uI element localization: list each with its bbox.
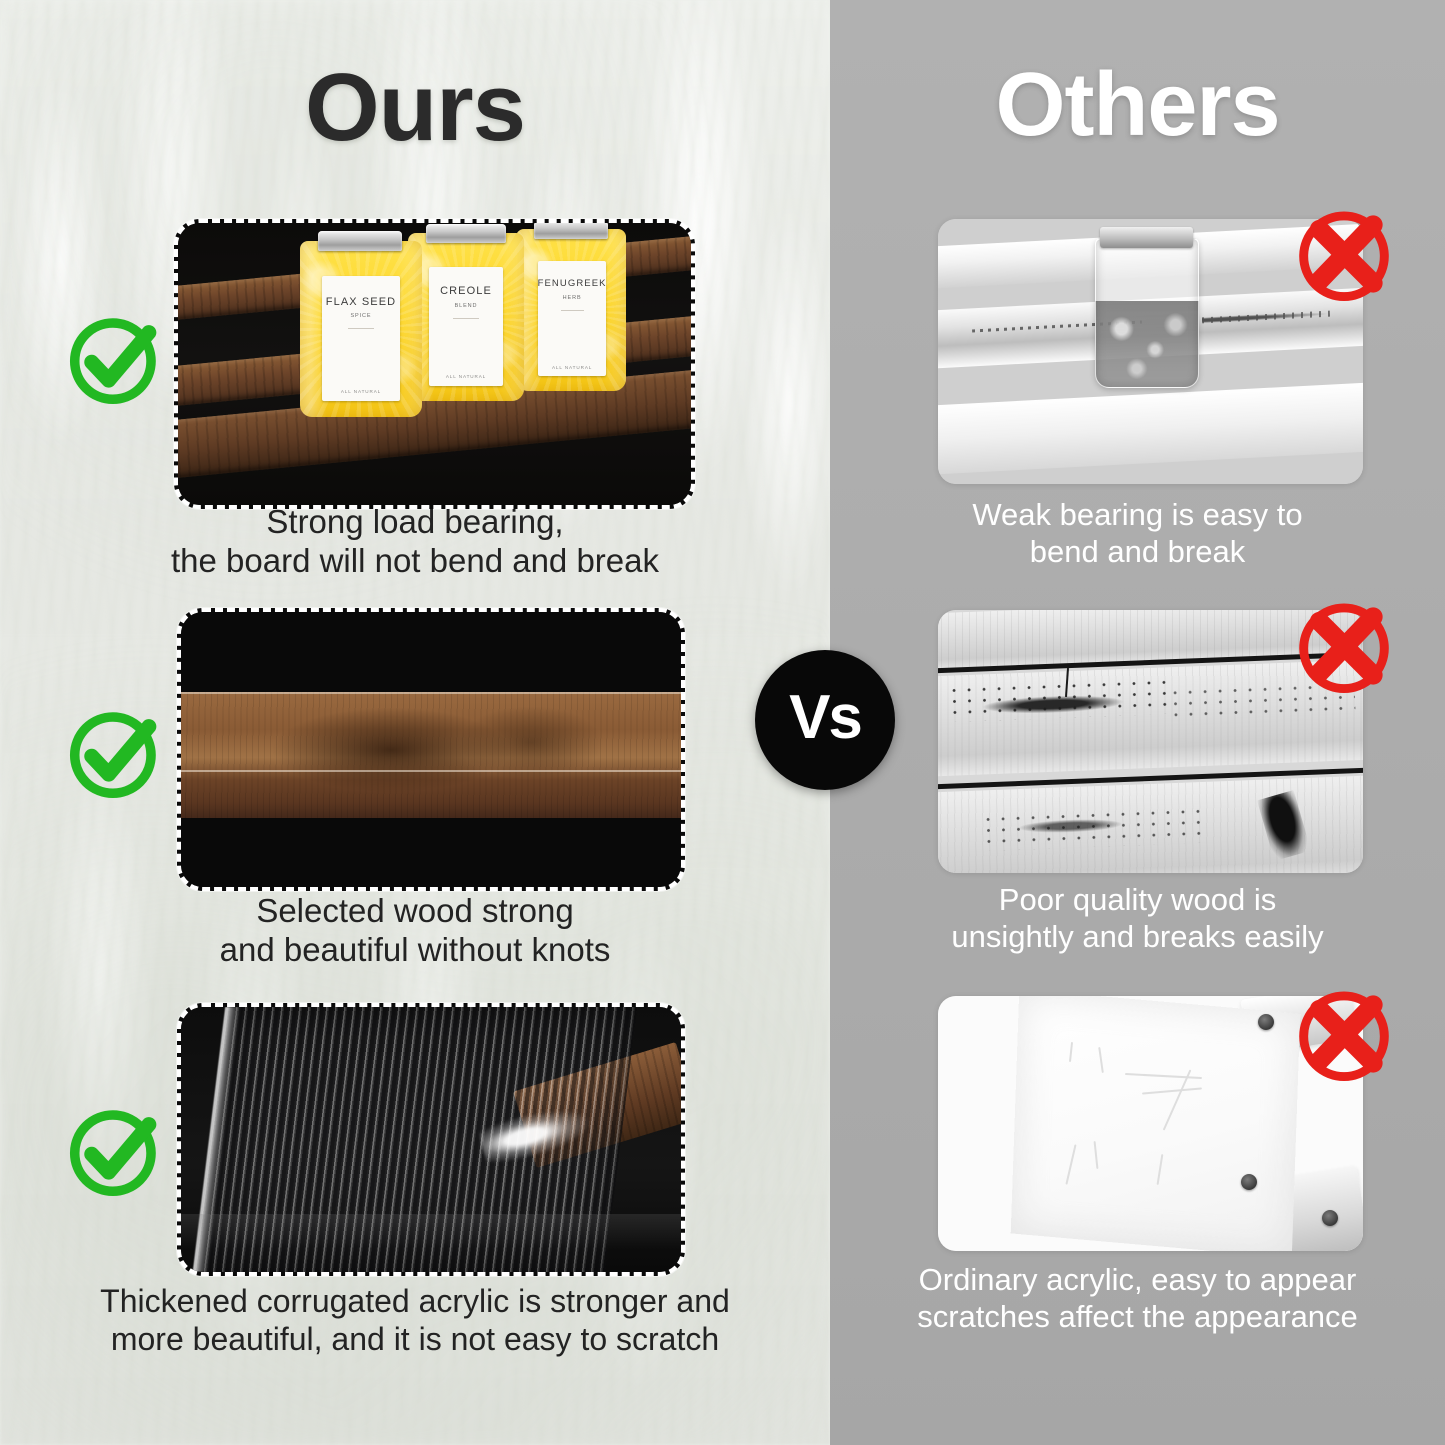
jar-label-fenugreek: FENUGREEK HERB ALL NATURAL: [538, 261, 606, 376]
jar-label-sub: SPICE: [350, 313, 371, 319]
vs-badge: Vs: [755, 650, 895, 790]
check-circle-icon-row-3: [62, 1098, 168, 1204]
ours-caption-3: Thickened corrugated acrylic is stronger…: [0, 1283, 830, 1359]
jar-label-sub: HERB: [563, 295, 582, 301]
spice-jar-creole: CREOLE BLEND ALL NATURAL: [408, 233, 524, 401]
vs-label: Vs: [789, 687, 861, 749]
ours-photo-3-acrylic: [177, 1003, 685, 1276]
spice-jar-fenugreek: FENUGREEK HERB ALL NATURAL: [516, 229, 626, 391]
jar-label-footer: ALL NATURAL: [552, 365, 592, 370]
jar-label-name: FENUGREEK: [538, 279, 607, 290]
comparison-infographic: Ours Others FENUGREEK HERB ALL NATURAL: [0, 0, 1445, 1445]
check-circle-icon-row-2: [62, 700, 168, 806]
jar-label-creole: CREOLE BLEND ALL NATURAL: [429, 267, 503, 386]
others-caption-3: Ordinary acrylic, easy to appear scratch…: [830, 1262, 1445, 1335]
cross-circle-icon-row-1: [1288, 198, 1400, 310]
ours-caption-2: Selected wood strong and beautiful witho…: [0, 892, 830, 970]
ours-photo-1-load-bearing: FENUGREEK HERB ALL NATURAL CREOLE BLEND …: [174, 219, 695, 509]
ours-heading: Ours: [0, 60, 830, 156]
others-caption-2: Poor quality wood is unsightly and break…: [830, 882, 1445, 955]
jar-label-name: FLAX SEED: [326, 296, 396, 309]
spice-jar-flax-seed: FLAX SEED SPICE ALL NATURAL: [300, 241, 422, 417]
jar-label-flax-seed: FLAX SEED SPICE ALL NATURAL: [322, 276, 400, 401]
cross-circle-icon-row-2: [1288, 590, 1400, 702]
others-caption-1: Weak bearing is easy to bend and break: [830, 497, 1445, 570]
jar-label-sub: BLEND: [455, 303, 478, 309]
jar-label-footer: ALL NATURAL: [341, 389, 381, 394]
jar-label-name: CREOLE: [440, 285, 492, 298]
others-heading: Others: [830, 60, 1445, 150]
check-circle-icon-row-1: [62, 306, 168, 412]
ours-photo-2-wood-quality: [177, 608, 685, 891]
ours-caption-1: Strong load bearing, the board will not …: [0, 503, 830, 581]
jar-label-footer: ALL NATURAL: [446, 374, 486, 379]
cross-circle-icon-row-3: [1288, 978, 1400, 1090]
